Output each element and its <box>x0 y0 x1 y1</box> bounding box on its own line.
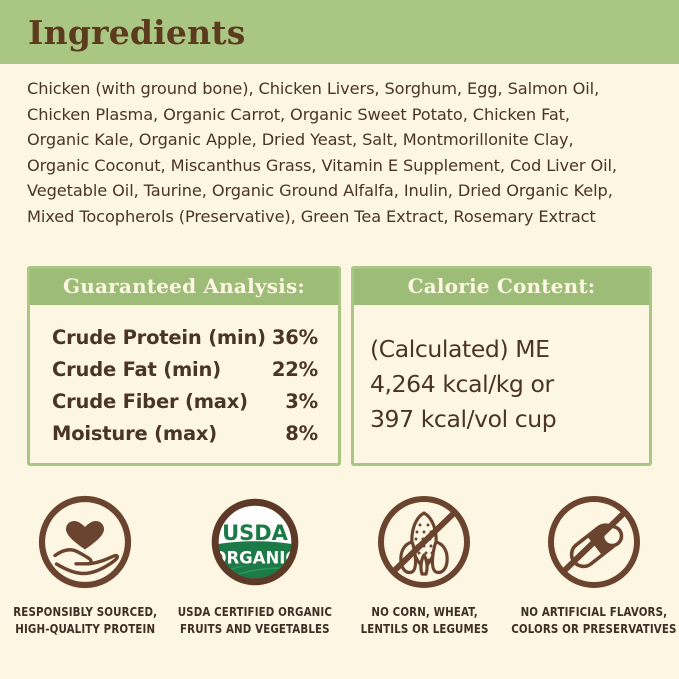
badge-label-line: USDA CERTIFIED ORGANIC <box>177 604 331 621</box>
badge-no-artificial: NO ARTIFICIAL FLAVORS, COLORS OR PRESERV… <box>509 492 679 637</box>
nutrient-label: Crude Fiber (max) <box>52 390 248 413</box>
calorie-line: 4,264 kcal/kg or <box>370 367 637 402</box>
badge-label-line: NO ARTIFICIAL FLAVORS, <box>511 604 676 621</box>
nutrition-panel: Ingredients Chicken (with ground bone), … <box>0 0 679 679</box>
guaranteed-analysis-heading: Guaranteed Analysis: <box>30 269 338 305</box>
badge-label-line: NO CORN, WHEAT, <box>360 604 488 621</box>
badge-label: NO ARTIFICIAL FLAVORS, COLORS OR PRESERV… <box>511 604 676 637</box>
ingredients-header-band: Ingredients <box>0 0 679 64</box>
nutrient-label: Crude Fat (min) <box>52 358 221 381</box>
table-row: Moisture (max) 8% <box>52 417 318 449</box>
calorie-content-heading: Calorie Content: <box>354 269 649 305</box>
ingredients-line: Vegetable Oil, Taurine, Organic Ground A… <box>27 178 655 204</box>
calorie-line: (Calculated) ME <box>370 332 637 367</box>
calorie-content-panel: Calorie Content: (Calculated) ME 4,264 k… <box>351 266 652 466</box>
nutrient-label: Crude Protein (min) <box>52 326 266 349</box>
badge-label-line: RESPONSIBLY SOURCED, <box>13 604 157 621</box>
usda-organic-seal-icon: USDA ORGANIC <box>205 492 305 592</box>
badge-label-line: FRUITS AND VEGETABLES <box>177 621 331 638</box>
table-row: Crude Protein (min) 36% <box>52 321 318 353</box>
ingredients-line: Chicken Plasma, Organic Carrot, Organic … <box>27 102 655 128</box>
guaranteed-analysis-panel: Guaranteed Analysis: Crude Protein (min)… <box>27 266 341 466</box>
ingredients-list: Chicken (with ground bone), Chicken Live… <box>27 76 655 229</box>
badge-usda-organic: USDA ORGANIC USDA CERTIFIED ORGANIC FRUI… <box>170 492 340 637</box>
nutrient-value: 8% <box>285 422 318 445</box>
badge-label: USDA CERTIFIED ORGANIC FRUITS AND VEGETA… <box>177 604 331 637</box>
ingredients-line: Mixed Tocopherols (Preservative), Green … <box>27 204 655 230</box>
no-artificial-additives-icon <box>544 492 644 592</box>
nutrient-value: 3% <box>285 390 318 413</box>
guaranteed-analysis-table: Crude Protein (min) 36% Crude Fat (min) … <box>30 305 338 463</box>
ingredients-line: Organic Kale, Organic Apple, Dried Yeast… <box>27 127 655 153</box>
badge-label-line: LENTILS OR LEGUMES <box>360 621 488 638</box>
feature-badges: RESPONSIBLY SOURCED, HIGH-QUALITY PROTEI… <box>0 492 679 637</box>
usda-seal-top-text: USDA <box>222 521 289 545</box>
nutrient-value: 36% <box>272 326 318 349</box>
nutrient-value: 22% <box>272 358 318 381</box>
badge-label: NO CORN, WHEAT, LENTILS OR LEGUMES <box>360 604 488 637</box>
nutrient-label: Moisture (max) <box>52 422 217 445</box>
calorie-content-body: (Calculated) ME 4,264 kcal/kg or 397 kca… <box>354 305 649 463</box>
badge-label: RESPONSIBLY SOURCED, HIGH-QUALITY PROTEI… <box>13 604 157 637</box>
badge-label-line: HIGH-QUALITY PROTEIN <box>13 621 157 638</box>
table-row: Crude Fiber (max) 3% <box>52 385 318 417</box>
analysis-panels: Guaranteed Analysis: Crude Protein (min)… <box>27 266 652 466</box>
calorie-line: 397 kcal/vol cup <box>370 402 637 437</box>
no-corn-icon <box>374 492 474 592</box>
table-row: Crude Fat (min) 22% <box>52 353 318 385</box>
badge-responsibly-sourced: RESPONSIBLY SOURCED, HIGH-QUALITY PROTEI… <box>0 492 170 637</box>
badge-no-corn: NO CORN, WHEAT, LENTILS OR LEGUMES <box>340 492 510 637</box>
page-title: Ingredients <box>28 16 246 49</box>
ingredients-line: Chicken (with ground bone), Chicken Live… <box>27 76 655 102</box>
badge-label-line: COLORS OR PRESERVATIVES <box>511 621 676 638</box>
ingredients-line: Organic Coconut, Miscanthus Grass, Vitam… <box>27 153 655 179</box>
hand-holding-heart-icon <box>35 492 135 592</box>
